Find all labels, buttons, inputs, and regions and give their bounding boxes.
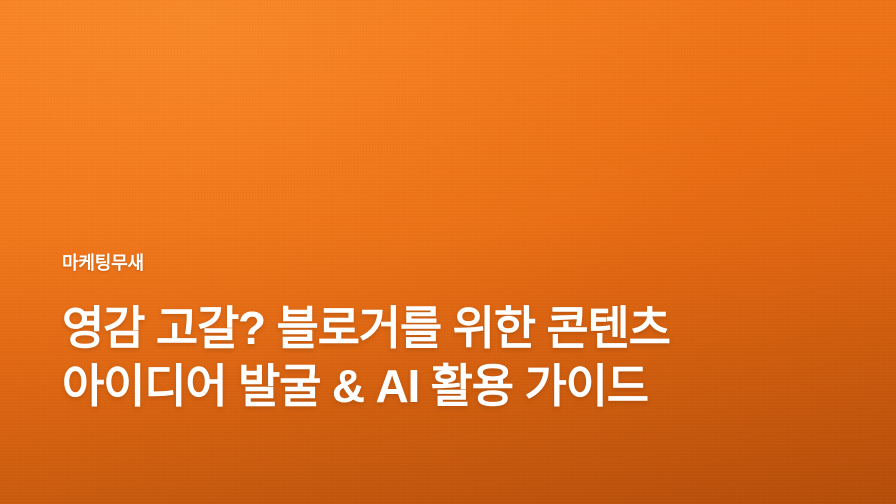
cover-headline: 영감 고갈? 블로거를 위한 콘텐츠 아이디어 발굴 & AI 활용 가이드 <box>62 299 822 415</box>
cover-banner: 마케팅무새 영감 고갈? 블로거를 위한 콘텐츠 아이디어 발굴 & AI 활용… <box>0 0 896 504</box>
cover-text-block: 마케팅무새 영감 고갈? 블로거를 위한 콘텐츠 아이디어 발굴 & AI 활용… <box>62 252 852 415</box>
brand-eyebrow-label: 마케팅무새 <box>62 252 852 275</box>
